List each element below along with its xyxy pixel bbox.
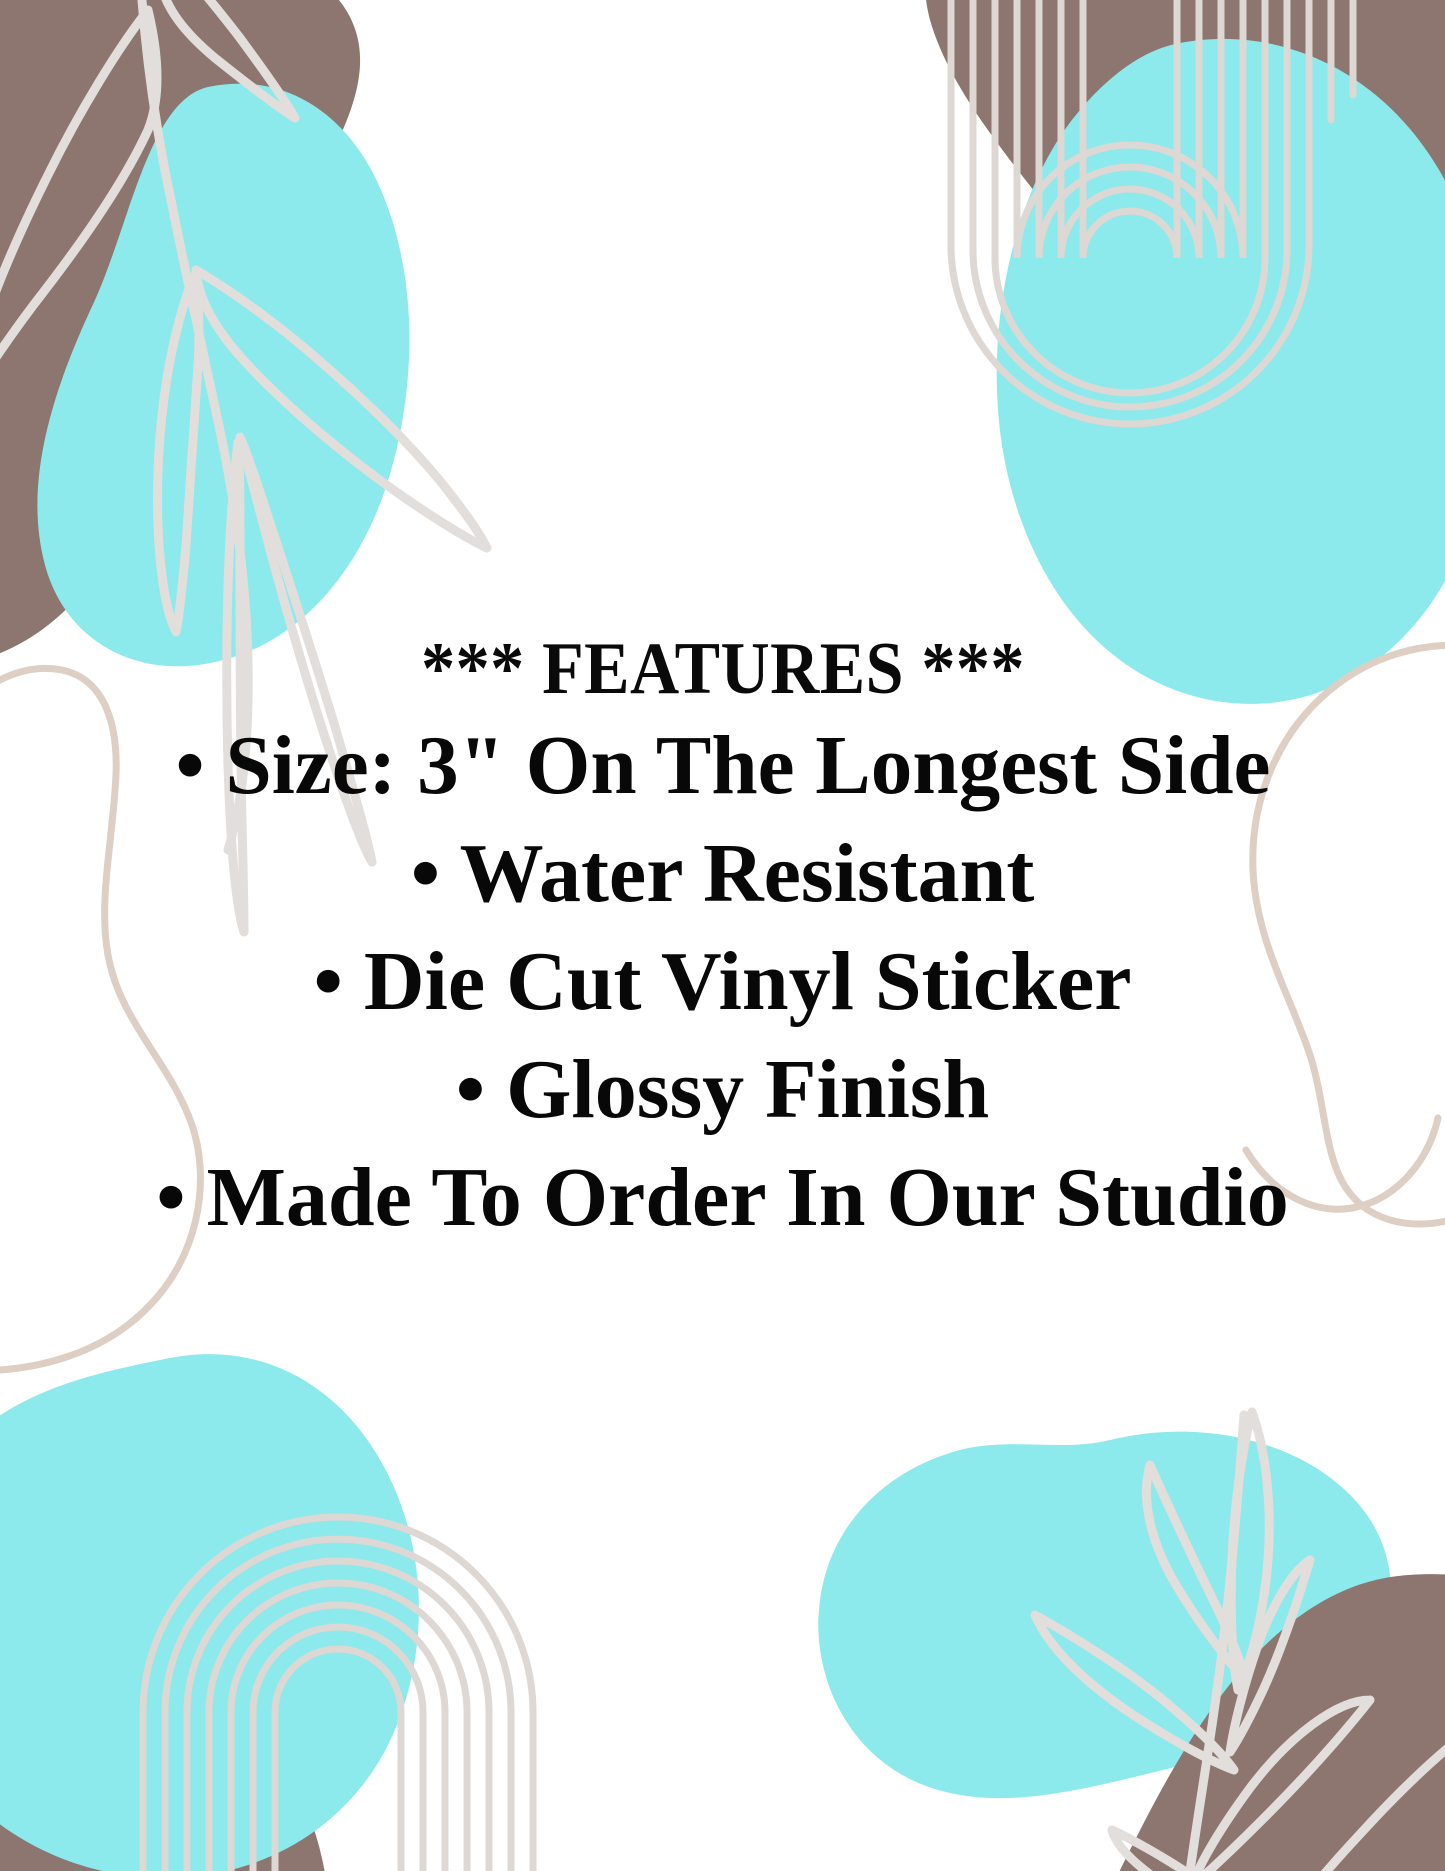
poster-content: *** FEATURES *** • Size: 3" On The Longe… <box>0 0 1445 1871</box>
poster-canvas: *** FEATURES *** • Size: 3" On The Longe… <box>0 0 1445 1871</box>
feature-item-made-to-order: • Made To Order In Our Studio <box>43 1156 1403 1240</box>
feature-item-water-resistant: • Water Resistant <box>43 832 1403 916</box>
feature-item-size: • Size: 3" On The Longest Side <box>49 724 1395 808</box>
features-heading: *** FEATURES *** <box>97 632 1348 706</box>
features-block: *** FEATURES *** • Size: 3" On The Longe… <box>43 632 1403 1240</box>
feature-item-glossy-finish: • Glossy Finish <box>43 1048 1403 1132</box>
feature-item-die-cut-vinyl-sticker: • Die Cut Vinyl Sticker <box>43 940 1403 1024</box>
